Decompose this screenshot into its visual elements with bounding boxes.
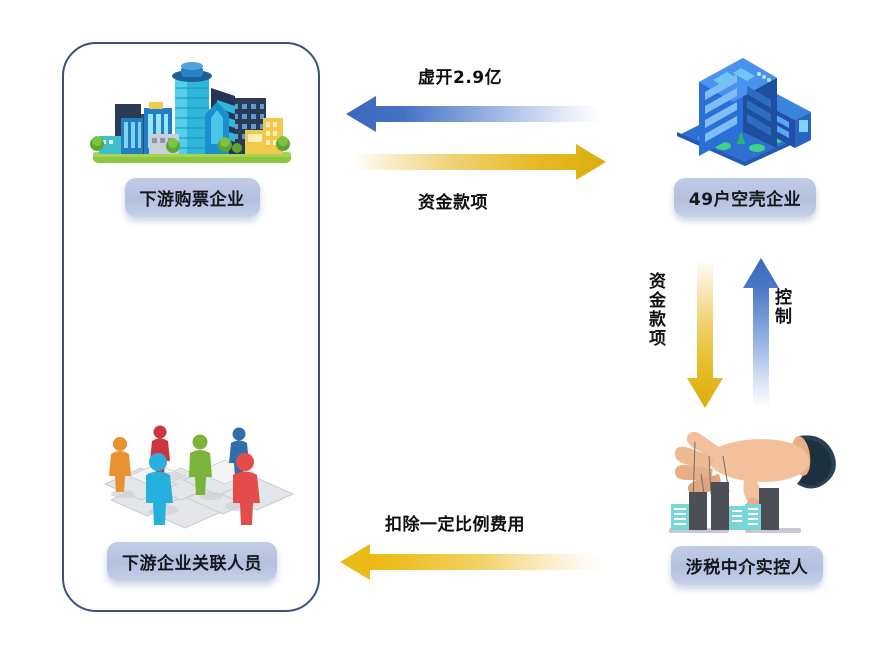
arrow-control — [740, 256, 784, 410]
diagram-canvas: 下游购票企业 — [0, 0, 894, 647]
node-label-downstream-related-persons: 下游企业关联人员 — [107, 542, 277, 581]
arrow-fake-invoice — [344, 92, 604, 136]
people-network-icon — [87, 418, 297, 536]
node-downstream-related-persons[interactable]: 下游企业关联人员 — [78, 418, 306, 581]
puppeteer-hand-icon — [649, 420, 845, 540]
arrow-deduct-fee — [338, 540, 606, 584]
office-building-icon — [665, 48, 825, 172]
arrow-label-fake-invoice: 虚开2.9亿 — [418, 63, 502, 88]
arrow-label-funds-payment-down: 资金款项 — [646, 272, 663, 348]
arrow-label-control: 控制 — [772, 288, 789, 326]
node-label-shell-companies: 49户空壳企业 — [674, 178, 816, 217]
city-skyline-icon — [85, 52, 300, 172]
node-shell-companies[interactable]: 49户空壳企业 — [650, 48, 840, 217]
arrow-funds-payment-top — [350, 140, 608, 184]
node-label-downstream-buyer: 下游购票企业 — [125, 178, 260, 217]
arrow-funds-payment-down — [684, 256, 728, 410]
node-downstream-buyer[interactable]: 下游购票企业 — [82, 52, 302, 217]
node-tax-agent-controller[interactable]: 涉税中介实控人 — [642, 420, 852, 585]
arrow-label-deduct-fee: 扣除一定比例费用 — [385, 510, 525, 535]
node-label-tax-agent-controller: 涉税中介实控人 — [671, 546, 824, 585]
arrow-label-funds-payment-top: 资金款项 — [418, 188, 488, 213]
